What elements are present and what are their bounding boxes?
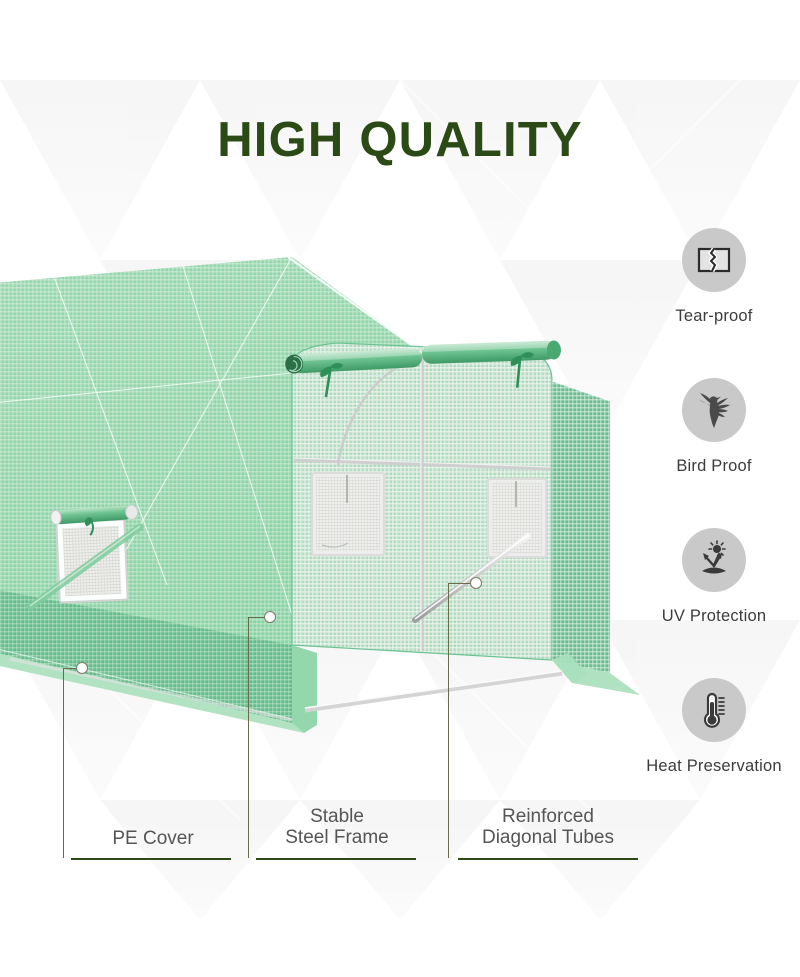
leader-dot-diagonal-tubes bbox=[470, 577, 482, 589]
tear-proof-icon-circle bbox=[682, 228, 746, 292]
callout-underline-steel-frame bbox=[256, 858, 416, 860]
leader-line-vertical-steel-frame bbox=[248, 617, 249, 858]
feature-label-tear-proof: Tear-proof bbox=[628, 307, 800, 327]
callout-underline-diagonal-tubes bbox=[458, 858, 638, 860]
callout-underline-pe-cover bbox=[71, 858, 231, 860]
heat-preservation-icon-circle bbox=[682, 678, 746, 742]
page-title: HIGH QUALITY bbox=[0, 112, 800, 168]
feature-label-bird-proof: Bird Proof bbox=[628, 457, 800, 477]
greenhouse-illustration bbox=[0, 255, 652, 755]
infographic-canvas: HIGH QUALITY bbox=[0, 0, 800, 977]
side-window bbox=[50, 505, 139, 603]
feature-item-uv-protection: UV Protection bbox=[628, 528, 800, 678]
callout-label-reinforced-diagonal-tubes: Reinforced Diagonal Tubes bbox=[448, 806, 648, 849]
callout-label-stable-steel-frame: Stable Steel Frame bbox=[252, 806, 422, 849]
heat-preservation-icon bbox=[693, 689, 735, 731]
uv-protection-icon bbox=[692, 538, 736, 582]
feature-item-heat-preservation: Heat Preservation bbox=[628, 678, 800, 828]
feature-list: Tear-proof bbox=[628, 228, 800, 828]
feature-item-tear-proof: Tear-proof bbox=[628, 228, 800, 378]
feature-label-uv-protection: UV Protection bbox=[628, 607, 800, 627]
bird-proof-icon bbox=[692, 388, 736, 432]
bird-proof-icon-circle bbox=[682, 378, 746, 442]
greenhouse-right-wall bbox=[552, 381, 640, 695]
leader-dot-pe-cover bbox=[76, 662, 88, 674]
feature-label-heat-preservation: Heat Preservation bbox=[628, 757, 800, 777]
front-window-left bbox=[312, 473, 384, 555]
feature-item-bird-proof: Bird Proof bbox=[628, 378, 800, 528]
tear-proof-icon bbox=[694, 240, 734, 280]
uv-protection-icon-circle bbox=[682, 528, 746, 592]
callout-label-pe-cover: PE Cover bbox=[63, 828, 243, 849]
leader-dot-steel-frame bbox=[264, 611, 276, 623]
